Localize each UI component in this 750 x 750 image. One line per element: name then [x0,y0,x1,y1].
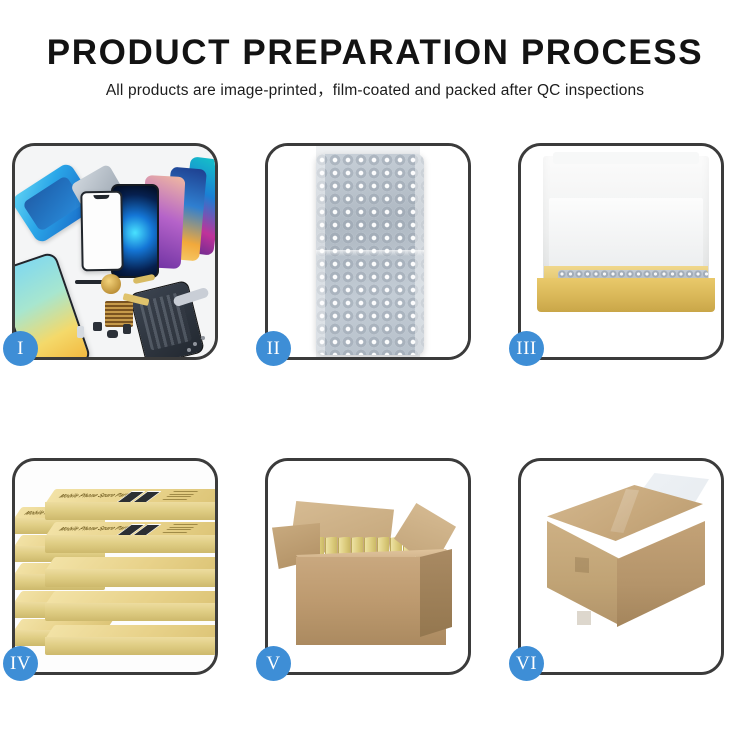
steps-grid: I II [12,143,738,679]
carton-seam-lower [577,611,591,625]
step-panel-2: II [265,143,471,360]
step-badge-2: II [256,331,291,366]
right-box-stack: Mobile Phone Spare Parts Mobile Phone Sp… [45,489,215,669]
step-image-2 [268,146,468,357]
phone-white-screen [80,191,123,272]
carton-side-face [420,549,452,637]
carton-right-face [617,521,705,627]
step-panel-1: I [12,143,218,360]
box-r1: Mobile Phone Spare Parts [45,489,215,516]
step-badge-5: V [256,646,291,681]
step-panel-3: III [518,143,724,360]
step-panel-6: VI [518,458,724,675]
box-r3 [45,557,215,584]
box-front-face [45,502,215,520]
pouch-seam [316,250,424,256]
carton-seam-upper [575,557,589,573]
step-image-5 [268,461,468,672]
step-panel-4: Mobile Phone Spare Parts [12,458,218,675]
bubble-wrap-pouch-photo [316,154,424,355]
small-chip-2 [107,330,118,338]
yellow-inner-box [537,266,715,312]
box-front-face [45,535,215,553]
small-chip-1 [93,322,102,331]
page-title: PRODUCT PREPARATION PROCESS [0,33,750,73]
screw-2 [201,336,205,340]
box-front-face [537,278,715,312]
box-front-face [45,603,215,621]
foam-sheet [549,198,703,270]
step-badge-6: VI [509,646,544,681]
box-r2: Mobile Phone Spare Parts [45,522,215,549]
page-subtitle: All products are image-printed，film-coat… [0,80,750,102]
step-image-3 [521,146,721,357]
sim-tray [77,326,84,338]
box-r4 [45,591,215,618]
step-badge-1: I [3,331,38,366]
step-image-1 [15,146,215,357]
screw-1 [193,342,197,346]
phones-and-parts-photo [15,146,215,357]
screw-3 [187,348,191,352]
copper-coil [101,274,121,294]
box-front-face [45,637,215,655]
header: PRODUCT PREPARATION PROCESS All products… [0,0,750,102]
step-panel-5: V [265,458,471,675]
step-badge-4: IV [3,646,38,681]
step-image-6 [521,461,721,672]
step-badge-3: III [509,331,544,366]
small-chip-3 [123,324,131,334]
box-front-face [45,569,215,587]
step-image-4: Mobile Phone Spare Parts [15,461,215,672]
box-r5 [45,625,215,652]
product-preparation-infographic: PRODUCT PREPARATION PROCESS All products… [0,0,750,750]
